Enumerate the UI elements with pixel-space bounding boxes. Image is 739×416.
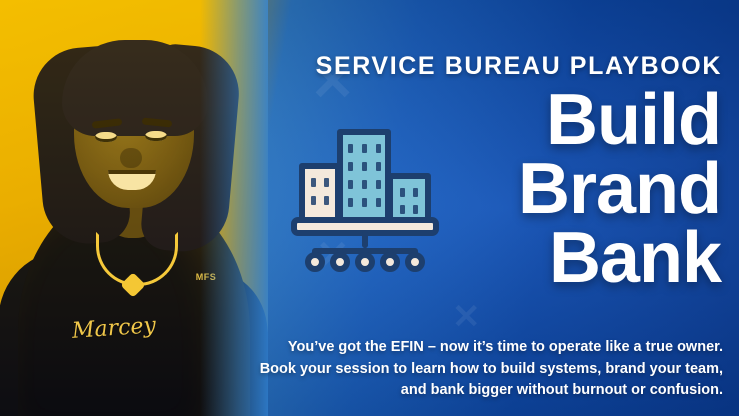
headline-line-2: Brand <box>301 155 721 224</box>
promo-banner: ✕ ✕ ✕ ✕ MFS Marcey <box>0 0 739 416</box>
body-line-1: You’ve got the EFIN – now it’s time to o… <box>223 337 723 359</box>
portrait-eye-left <box>95 132 117 142</box>
shirt-logo: MFS <box>186 272 226 298</box>
kicker-text: SERVICE BUREAU PLAYBOOK <box>252 52 722 81</box>
headline-line-3: Bank <box>301 224 721 293</box>
portrait-hair-top <box>62 40 208 136</box>
body-line-3: and bank bigger without burnout or confu… <box>223 380 723 402</box>
watermark-x-icon: ✕ <box>452 300 481 334</box>
headline-line-1: Build <box>301 86 721 155</box>
headline: Build Brand Bank <box>301 86 721 293</box>
body-copy: You’ve got the EFIN – now it’s time to o… <box>223 337 723 402</box>
portrait-eye-right <box>145 131 167 141</box>
body-line-2: Book your session to learn how to build … <box>223 359 723 381</box>
portrait-nose <box>120 148 142 168</box>
